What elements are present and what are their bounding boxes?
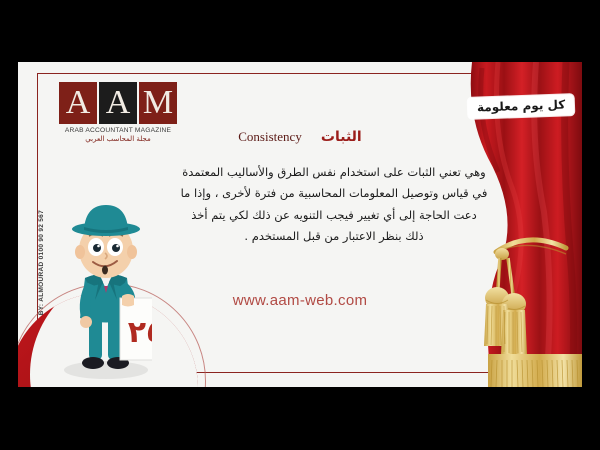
slide-card: A A M ARAB ACCOUNTANT MAGAZINE مجلة المح… xyxy=(18,62,582,387)
author-credit: BY: ALMOURAD 0100 90 92 567 xyxy=(38,210,45,315)
daily-info-banner: كل يوم معلومة xyxy=(467,94,574,119)
mascot-hand-left xyxy=(80,316,92,328)
mascot-eye-glint-left xyxy=(97,245,100,248)
tassel-cord-1 xyxy=(498,258,500,288)
slide-canvas: A A M ARAB ACCOUNTANT MAGAZINE مجلة المح… xyxy=(0,0,600,450)
body-line-2: في قياس وتوصيل المعلومات المحاسبية من فت… xyxy=(174,183,494,204)
logo-letter-m: M xyxy=(139,82,177,124)
body-line-4: ذلك بنظر الاعتبار من قبل المستخدم . xyxy=(174,226,494,247)
body-paragraph: وهي تعني الثبات على استخدام نفس الطرق وا… xyxy=(174,162,494,247)
mascot-hat-crown xyxy=(84,205,128,229)
mascot-illustration: ٢٥ xyxy=(60,194,152,384)
mascot-shadow xyxy=(64,361,148,379)
mascot-hand-right xyxy=(122,294,134,307)
mascot-eye-glint-right xyxy=(116,245,119,248)
logo-letter-a2: A xyxy=(99,82,137,124)
body-line-3: دعت الحاجة إلى أي تغيير فيجب التنويه عن … xyxy=(174,205,494,226)
headline-english: Consistency xyxy=(238,129,302,145)
mascot-ear-left xyxy=(75,245,85,259)
mascot-shoe-left xyxy=(82,357,104,369)
curtain-fringe-band xyxy=(488,354,582,360)
mascot-pupil-right xyxy=(112,244,120,252)
body-line-1: وهي تعني الثبات على استخدام نفس الطرق وا… xyxy=(174,162,494,183)
mascot-card-number: ٢٥ xyxy=(128,315,152,350)
mascot-goatee xyxy=(102,266,108,275)
mascot-pupil-left xyxy=(93,244,101,252)
headline-arabic: الثبات xyxy=(321,129,362,145)
mascot-ear-right xyxy=(127,245,137,259)
logo-letter-squares: A A M xyxy=(56,82,180,124)
logo-letter-a1: A xyxy=(59,82,97,124)
